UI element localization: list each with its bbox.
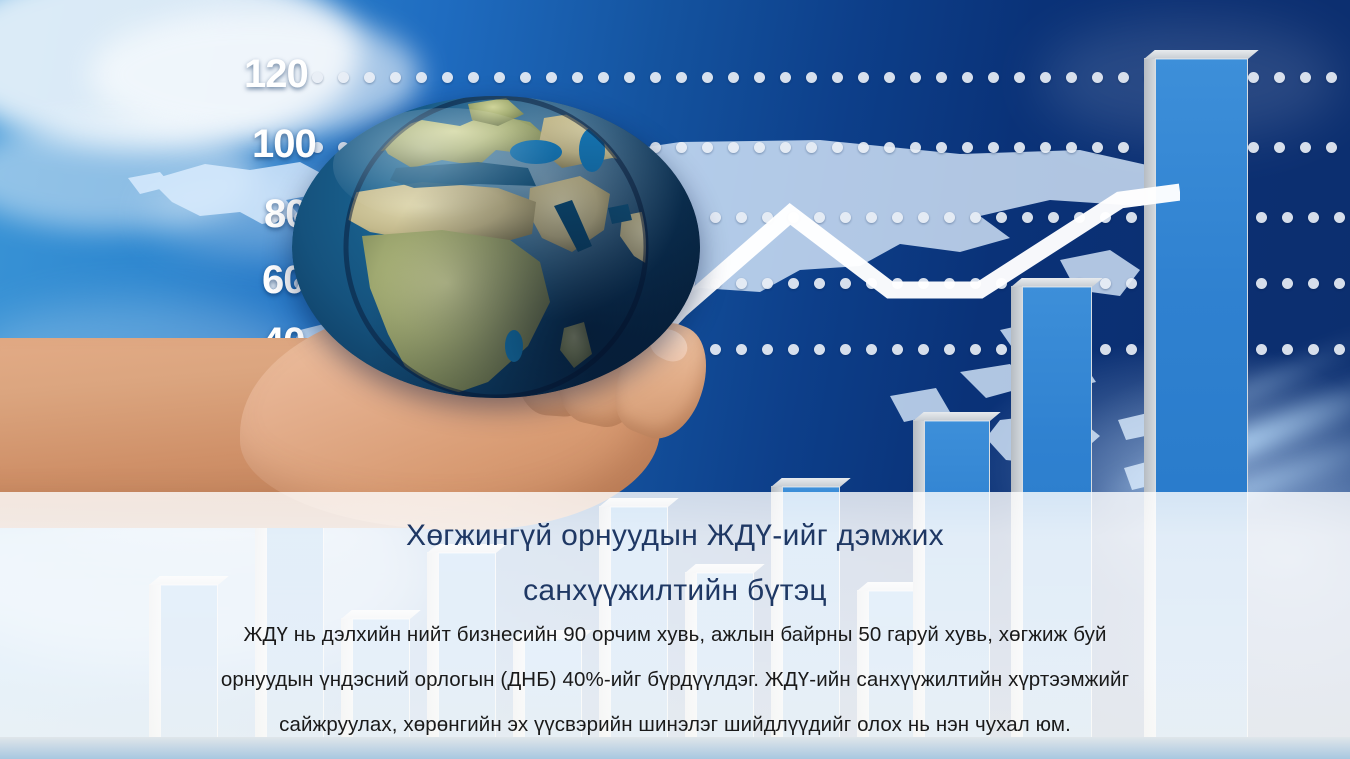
slide-body-line-1: ЖДҮ нь дэлхийн нийт бизнесийн 90 орчим х…	[175, 612, 1175, 657]
axis-tick-120: 120	[244, 52, 308, 97]
slide-title-line-1: Хөгжингүй орнуудын ЖДҮ-ийг дэмжих	[0, 508, 1350, 563]
presentation-slide: 120 100 80 60 40	[0, 0, 1350, 759]
earth-globe-icon	[292, 96, 700, 398]
slide-body-line-2: орнуудын үндэсний орлогын (ДНБ) 40%-ийг …	[175, 657, 1175, 702]
slide-title-line-2: санхүүжилтийн бүтэц	[0, 563, 1350, 618]
globe-shadow	[292, 96, 700, 398]
slide-body-text: ЖДҮ нь дэлхийн нийт бизнесийн 90 орчим х…	[175, 612, 1175, 747]
slide-footer-band	[0, 737, 1350, 759]
slide-title: Хөгжингүй орнуудын ЖДҮ-ийг дэмжих санхүү…	[0, 508, 1350, 618]
